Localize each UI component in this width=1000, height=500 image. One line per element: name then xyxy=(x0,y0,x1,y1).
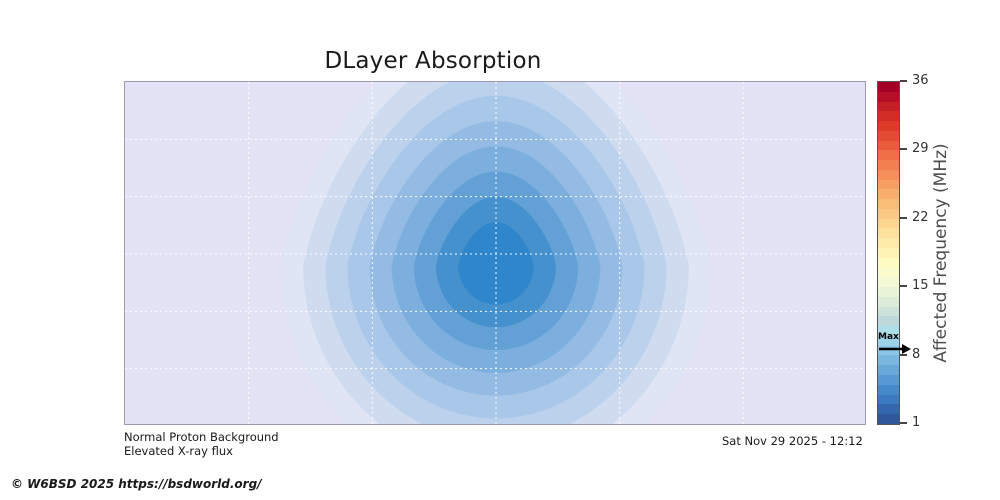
colorbar-segment xyxy=(878,131,899,141)
colorbar-segment xyxy=(878,375,899,385)
colorbar-segment xyxy=(878,277,899,287)
colorbar-tick-label: 29 xyxy=(912,140,929,158)
graticule xyxy=(125,82,866,425)
colorbar-segment xyxy=(878,111,899,121)
colorbar-tick-label: 8 xyxy=(912,346,920,364)
colorbar-tick-label: 36 xyxy=(912,72,929,90)
colorbar-segment xyxy=(878,248,899,258)
colorbar-segment xyxy=(878,228,899,238)
colorbar-tick-label: 15 xyxy=(912,277,929,295)
timestamp: Sat Nov 29 2025 - 12:12 xyxy=(722,434,863,448)
colorbar-segment xyxy=(878,199,899,209)
world-map-plot[interactable] xyxy=(124,81,866,425)
colorbar-segment xyxy=(878,141,899,151)
colorbar-tick-label: 22 xyxy=(912,209,929,227)
map-canvas xyxy=(125,82,866,425)
colorbar-segment xyxy=(878,219,899,229)
colorbar-axis-label: Affected Frequency (MHz) xyxy=(928,81,954,425)
right-arrow-icon xyxy=(878,343,912,357)
colorbar-segment xyxy=(878,189,899,199)
page-title: DLayer Absorption xyxy=(0,48,866,74)
colorbar-segment xyxy=(878,121,899,131)
colorbar-segment xyxy=(878,238,899,248)
colorbar-segment xyxy=(878,209,899,219)
status-note-proton: Normal Proton Background xyxy=(124,430,279,444)
colorbar-segment xyxy=(878,385,899,395)
colorbar-segment xyxy=(878,258,899,268)
colorbar-segment xyxy=(878,316,899,326)
colorbar-segment xyxy=(878,150,899,160)
colorbar-segment xyxy=(878,268,899,278)
colorbar-segment xyxy=(878,414,899,424)
colorbar-segment xyxy=(878,307,899,317)
colorbar-segment xyxy=(878,160,899,170)
colorbar[interactable] xyxy=(877,81,900,425)
colorbar-segment xyxy=(878,82,899,92)
status-note-xray: Elevated X-ray flux xyxy=(124,444,233,458)
max-marker-label: Max xyxy=(878,332,899,342)
copyright-notice: © W6BSD 2025 https://bsdworld.org/ xyxy=(11,477,262,491)
max-marker: Max xyxy=(878,334,912,360)
colorbar-segment xyxy=(878,297,899,307)
colorbar-segment xyxy=(878,365,899,375)
colorbar-segment xyxy=(878,395,899,405)
dlayer-absorption-figure: DLayer Absorption xyxy=(0,0,1000,500)
colorbar-segment xyxy=(878,102,899,112)
colorbar-tick-label: 1 xyxy=(912,414,920,432)
colorbar-segment xyxy=(878,92,899,102)
colorbar-segment xyxy=(878,404,899,414)
colorbar-segment xyxy=(878,170,899,180)
colorbar-segment xyxy=(878,287,899,297)
colorbar-axis-label-text: Affected Frequency (MHz) xyxy=(931,143,951,362)
colorbar-segment xyxy=(878,180,899,190)
